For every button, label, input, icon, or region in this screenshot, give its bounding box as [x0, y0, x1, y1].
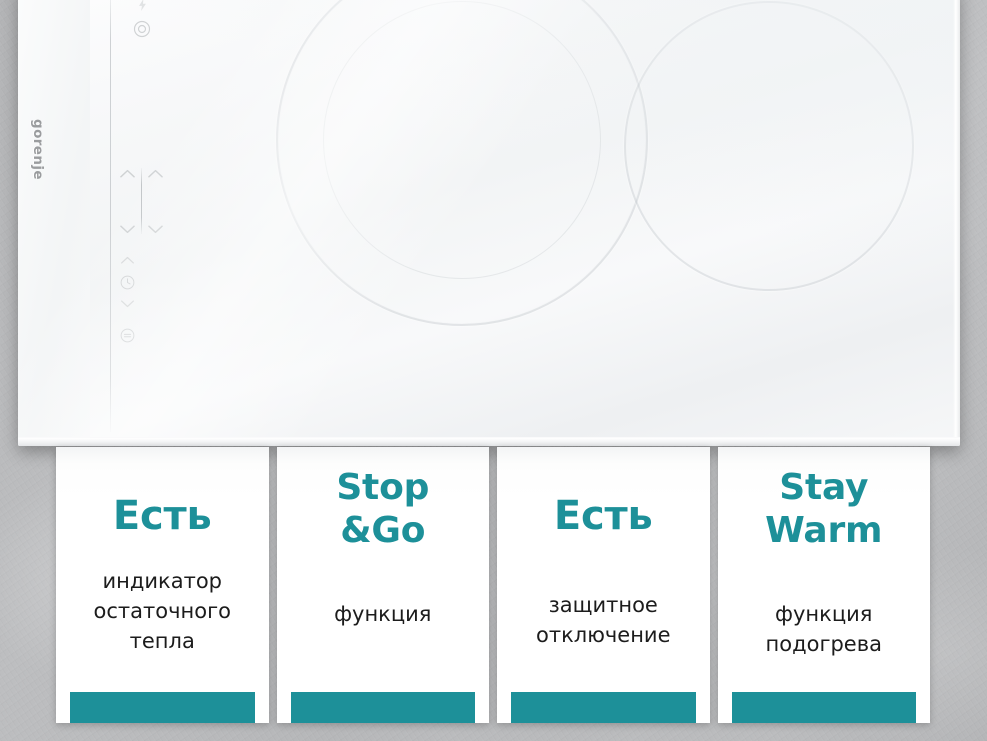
induction-cooktop: gorenje: [18, 0, 960, 446]
page-root: gorenje: [0, 0, 987, 741]
desc-line: защитное: [549, 593, 658, 617]
desc-line: функция: [775, 602, 872, 626]
title-line: Есть: [113, 493, 212, 539]
control-panel[interactable]: [110, 0, 174, 446]
feature-card-accent-bar: [70, 692, 255, 723]
desc-line: подогрева: [766, 632, 882, 656]
left-slider-up-icon[interactable]: [116, 164, 138, 182]
desc-line: тепла: [130, 629, 195, 653]
feature-card[interactable]: Stop &Go функция: [277, 447, 490, 723]
feature-card-title: Есть: [554, 494, 653, 538]
feature-card-accent-bar: [511, 692, 696, 723]
title-line: Stop: [336, 467, 429, 508]
desc-line: остаточного: [94, 599, 231, 623]
feature-card[interactable]: Есть индикатор остаточного тепла: [56, 447, 269, 723]
title-line: Stay: [779, 467, 868, 508]
feature-card-description: индикатор остаточного тепла: [94, 566, 231, 656]
feature-card[interactable]: Есть защитное отключение: [497, 447, 710, 723]
desc-line: индикатор: [102, 569, 222, 593]
title-line: &Go: [340, 510, 425, 551]
feature-card-description: защитное отключение: [536, 590, 671, 650]
feature-card-accent-bar: [291, 692, 476, 723]
right-slider-up-icon[interactable]: [144, 164, 166, 182]
gorenje-brand-logo: gorenje: [30, 119, 46, 180]
title-line: Есть: [554, 493, 653, 539]
cooktop-front-edge: [18, 437, 960, 446]
feature-card-title: Есть: [113, 494, 212, 538]
feature-card-accent-bar: [732, 692, 917, 723]
timer-up-icon[interactable]: [116, 252, 138, 268]
timer-down-icon[interactable]: [116, 296, 138, 312]
right-slider-down-icon[interactable]: [144, 220, 166, 238]
feature-card-description: функция подогрева: [766, 599, 882, 659]
feature-card[interactable]: Stay Warm функция подогрева: [718, 447, 931, 723]
zone-left-dual-outer-ring: [276, 0, 648, 326]
slider-divider: [141, 168, 142, 234]
boost-icon[interactable]: [135, 0, 149, 12]
desc-line: функция: [334, 602, 431, 626]
feature-card-description: функция: [334, 599, 431, 629]
child-lock-icon[interactable]: [116, 324, 138, 346]
title-line: Warm: [765, 510, 882, 551]
zone-select-icon[interactable]: [130, 17, 154, 41]
brand-strip: [18, 0, 90, 446]
feature-card-title: Stop &Go: [336, 466, 429, 552]
zone-left-dual-inner-ring: [323, 1, 601, 279]
feature-card-list: Есть индикатор остаточного тепла Stop &G…: [56, 447, 930, 723]
left-slider-down-icon[interactable]: [116, 220, 138, 238]
desc-line: отключение: [536, 623, 671, 647]
cooktop-right-edge: [953, 0, 960, 446]
feature-card-title: Stay Warm: [765, 466, 882, 552]
timer-clock-icon[interactable]: [116, 272, 138, 292]
zone-right-single-ring: [624, 1, 914, 291]
